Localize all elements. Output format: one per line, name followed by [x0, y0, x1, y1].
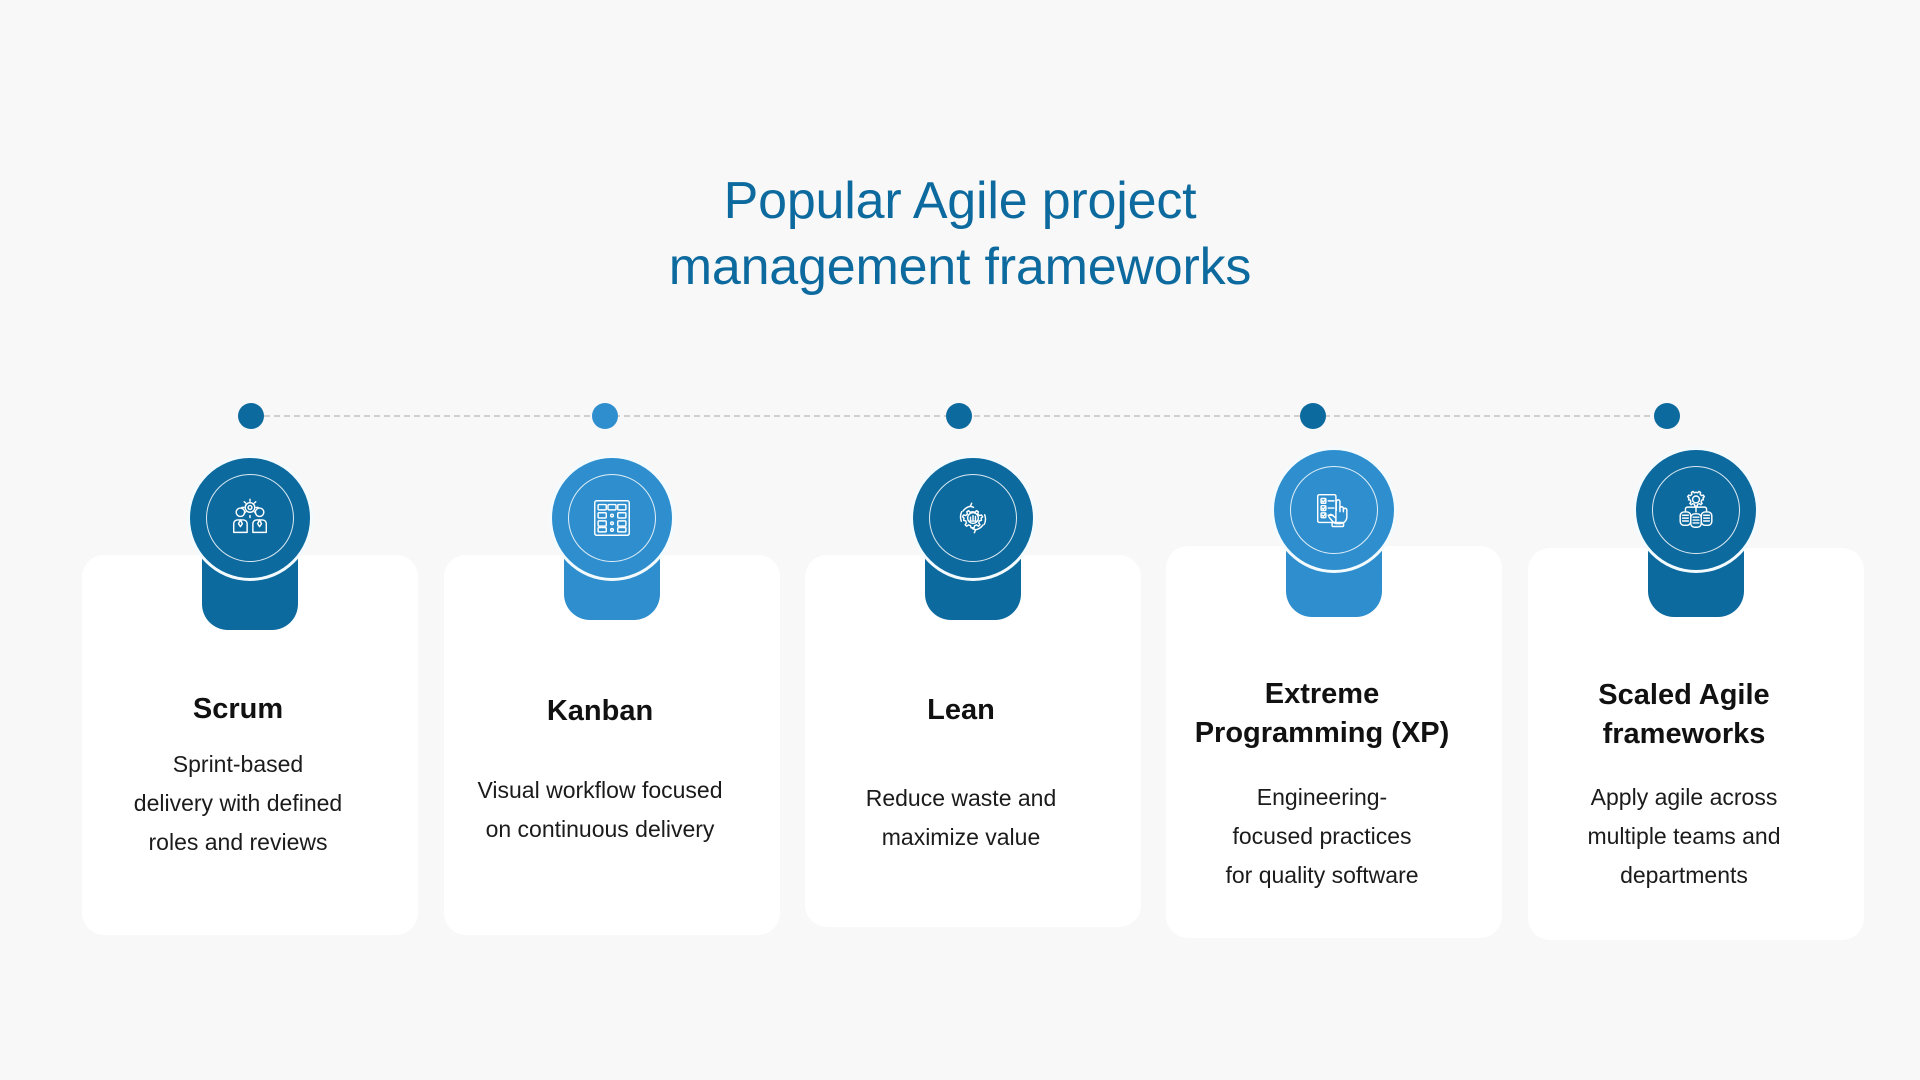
card-heading-xp: Extreme Programming (XP)	[1168, 675, 1476, 753]
icon-ring	[568, 474, 656, 562]
icon-ring	[929, 474, 1017, 562]
card-heading-scaled-agile: Scaled Agile frameworks	[1530, 676, 1838, 754]
infographic-canvas: Popular Agile project management framewo…	[0, 0, 1920, 1080]
icon-circle-lean[interactable]	[913, 458, 1033, 578]
card-heading-kanban: Kanban	[446, 692, 754, 731]
icon-ring	[1652, 466, 1740, 554]
framework-column-scrum[interactable]: Scrum Sprint-based delivery with defined…	[70, 0, 430, 1080]
framework-column-kanban[interactable]: Kanban Visual workflow focused on contin…	[432, 0, 792, 1080]
card-body-lean: Reduce waste and maximize value	[803, 779, 1119, 857]
icon-circle-scaled-agile[interactable]	[1636, 450, 1756, 570]
team-gear-icon	[227, 495, 273, 541]
card-heading-lean: Lean	[807, 691, 1115, 730]
kanban-board-icon	[589, 495, 635, 541]
checklist-hand-icon	[1311, 487, 1357, 533]
card-body-scrum: Sprint-based delivery with defined roles…	[80, 745, 396, 862]
framework-column-xp[interactable]: Extreme Programming (XP) Engineering- fo…	[1154, 0, 1514, 1080]
card-body-kanban: Visual workflow focused on continuous de…	[442, 771, 758, 849]
icon-ring	[1290, 466, 1378, 554]
gear-network-icon	[1673, 487, 1719, 533]
framework-columns: Scrum Sprint-based delivery with defined…	[0, 0, 1920, 1080]
icon-circle-xp[interactable]	[1274, 450, 1394, 570]
icon-circle-scrum[interactable]	[190, 458, 310, 578]
framework-column-scaled-agile[interactable]: Scaled Agile frameworks Apply agile acro…	[1516, 0, 1876, 1080]
icon-ring	[206, 474, 294, 562]
icon-circle-kanban[interactable]	[552, 458, 672, 578]
framework-column-lean[interactable]: Lean Reduce waste and maximize value	[793, 0, 1153, 1080]
card-heading-scrum: Scrum	[84, 690, 392, 729]
card-body-scaled-agile: Apply agile across multiple teams and de…	[1526, 778, 1842, 895]
card-body-xp: Engineering- focused practices for quali…	[1164, 778, 1480, 895]
gear-cycle-icon	[950, 495, 996, 541]
